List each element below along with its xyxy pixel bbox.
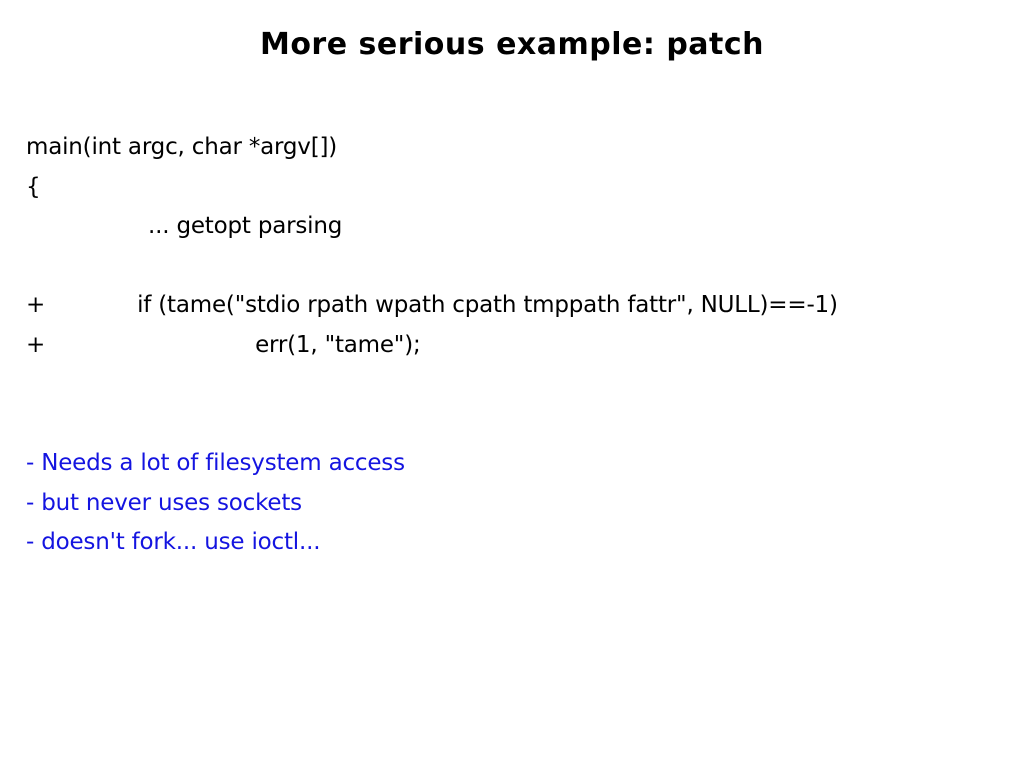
code-line-added-tame-call: +if (tame("stdio rpath wpath cpath tmppa… bbox=[26, 286, 1006, 326]
code-text: if (tame("stdio rpath wpath cpath tmppat… bbox=[137, 292, 838, 318]
note-line-filesystem-access: - Needs a lot of filesystem access bbox=[26, 444, 1006, 484]
note-text: - doesn't fork... use ioctl... bbox=[26, 529, 320, 555]
diff-add-marker: + bbox=[26, 292, 45, 318]
code-text: ... getopt parsing bbox=[148, 213, 342, 239]
code-line-blank-1 bbox=[26, 247, 1006, 287]
code-line-getopt: ... getopt parsing bbox=[26, 207, 1006, 247]
diff-add-marker: + bbox=[26, 332, 45, 358]
slide-body: main(int argc, char *argv[]) { ... getop… bbox=[26, 128, 1006, 563]
note-text: - but never uses sockets bbox=[26, 490, 302, 516]
code-text: err(1, "tame"); bbox=[255, 332, 420, 358]
note-text: - Needs a lot of filesystem access bbox=[26, 450, 405, 476]
note-line-no-fork-ioctl: - doesn't fork... use ioctl... bbox=[26, 523, 1006, 563]
code-text: { bbox=[26, 174, 40, 200]
slide-title: More serious example: patch bbox=[0, 26, 1024, 64]
code-line-blank-2 bbox=[26, 365, 1006, 405]
code-line-added-err-call: +err(1, "tame"); bbox=[26, 326, 1006, 366]
slide-canvas: More serious example: patch main(int arg… bbox=[0, 0, 1024, 768]
code-text bbox=[26, 371, 33, 397]
code-text: main(int argc, char *argv[]) bbox=[26, 134, 337, 160]
code-text bbox=[26, 253, 33, 279]
note-line-no-sockets: - but never uses sockets bbox=[26, 484, 1006, 524]
code-line-blank-3 bbox=[26, 405, 1006, 445]
code-line-main-signature: main(int argc, char *argv[]) bbox=[26, 128, 1006, 168]
code-text bbox=[26, 411, 33, 437]
code-line-open-brace: { bbox=[26, 168, 1006, 208]
